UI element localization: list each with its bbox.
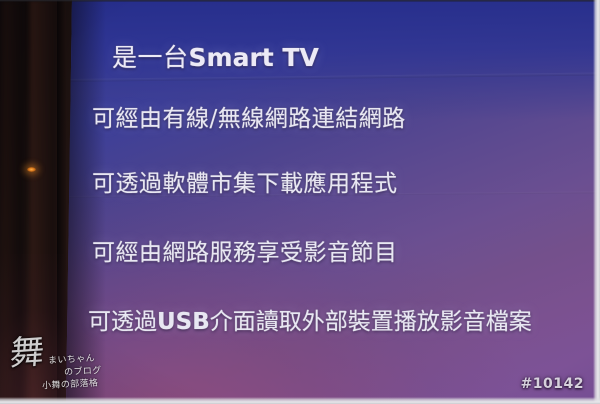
indicator-led bbox=[27, 167, 36, 172]
photograph: 是一台Smart TV 可經由有線/無線網路連結網路 可透過軟體市集下載應用程式… bbox=[0, 0, 600, 404]
screen-vignette bbox=[66, 0, 600, 404]
projection-screen bbox=[66, 0, 600, 404]
photo-id-label: #10142 bbox=[521, 376, 584, 392]
